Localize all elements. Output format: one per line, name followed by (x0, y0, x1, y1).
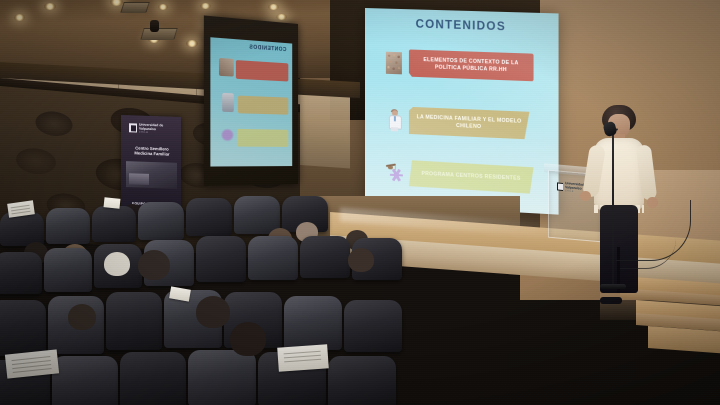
audience-head (68, 304, 96, 330)
banner-title: Centro Semillero Medicina Familiar (127, 145, 177, 158)
ceiling-light (268, 4, 279, 10)
audience-seat[interactable] (138, 202, 184, 240)
slide-item-label-3: PROGRAMA CENTROS RESIDENTES (409, 160, 534, 194)
banner-photo (126, 161, 177, 189)
mirrored-slide-title: CONTENIDOS (249, 44, 286, 53)
slide-row-3: PROGRAMA CENTROS RESIDENTES (383, 159, 534, 194)
audience-seat[interactable] (0, 212, 44, 246)
slide-row-2: LA MEDICINA FAMILIAR Y EL MODELO CHILENO (383, 106, 529, 140)
audience-notes (277, 344, 329, 371)
projection-screen-frame: CONTENIDOS ELEMENTOS DE CONTEXTO DE LA P… (365, 8, 559, 215)
slide-item-label-1: ELEMENTOS DE CONTEXTO DE LA POLÍTICA PÚB… (409, 49, 534, 81)
audience-head (138, 250, 170, 280)
audience-seat[interactable] (44, 248, 92, 292)
audience-seat[interactable] (284, 296, 342, 350)
mirrored-projection-panel: CONTENIDOS (204, 15, 298, 185)
ceiling-light (276, 14, 287, 20)
microphone-stand-pole (612, 128, 614, 288)
mirrored-slide-icon-2 (222, 93, 234, 112)
presenter-shoe (600, 297, 622, 304)
banner-country: CHILE (139, 131, 181, 134)
ceiling-vent (120, 2, 150, 13)
banner-logo: Universidad de Valparaíso CHILE (129, 123, 181, 135)
audience-notes (104, 197, 121, 209)
mirrored-slide-box-3 (237, 129, 288, 147)
slide-item-label-2: LA MEDICINA FAMILIAR Y EL MODELO CHILENO (409, 107, 529, 140)
audience-seat[interactable] (328, 356, 396, 405)
mirrored-slide-box-2 (238, 96, 288, 115)
audience-seat[interactable] (234, 196, 280, 234)
stage-floor-landing (648, 326, 720, 353)
audience-seat[interactable] (52, 356, 118, 405)
mirrored-slide: CONTENIDOS (210, 37, 292, 166)
university-crest-icon (129, 124, 137, 133)
ceiling-light (44, 3, 56, 10)
doctor-figure-icon (383, 107, 405, 132)
audience-seat[interactable] (188, 350, 256, 405)
presenter-left-hand (580, 191, 591, 201)
audience-seat[interactable] (248, 236, 298, 280)
audience-seat[interactable] (46, 208, 90, 244)
audience-seat[interactable] (300, 236, 350, 278)
ceiling-light (158, 4, 168, 10)
seated-audience (0, 196, 500, 405)
mirrored-slide-icon-3 (220, 126, 235, 143)
graduation-cap-medical-star-icon (383, 160, 405, 185)
crowd-photo-icon (383, 50, 405, 75)
audience-head (196, 296, 230, 328)
ceiling-vent (140, 28, 177, 40)
main-projection-screen: CONTENIDOS ELEMENTOS DE CONTEXTO DE LA P… (365, 8, 559, 215)
audience-seat[interactable] (196, 236, 246, 282)
ceiling-light (200, 3, 211, 9)
audience-seat[interactable] (120, 352, 186, 405)
mirrored-slide-box-1 (236, 60, 288, 81)
audience-seat[interactable] (186, 198, 232, 236)
mirrored-slide-icon-1 (219, 58, 234, 77)
microphone-stand-base (600, 284, 626, 289)
audience-head (230, 322, 266, 356)
audience-head (348, 248, 374, 272)
audience-seat[interactable] (0, 300, 46, 356)
photo-scene: CONTENIDOS Universidad de Valparaíso CHI… (0, 0, 720, 405)
ceiling-light (186, 40, 198, 47)
ceiling-speaker-icon (150, 20, 159, 32)
audience-head-white-hair (104, 252, 130, 276)
audience-seat[interactable] (344, 300, 402, 352)
audience-seat[interactable] (92, 206, 136, 242)
ceiling-light (14, 14, 25, 21)
university-crest-icon (557, 182, 563, 191)
audience-seat[interactable] (0, 252, 42, 294)
audience-seat[interactable] (106, 292, 162, 350)
slide-row-1: ELEMENTOS DE CONTEXTO DE LA POLÍTICA PÚB… (383, 49, 534, 82)
slide-title: CONTENIDOS (365, 17, 559, 35)
audience-notes (5, 349, 59, 378)
